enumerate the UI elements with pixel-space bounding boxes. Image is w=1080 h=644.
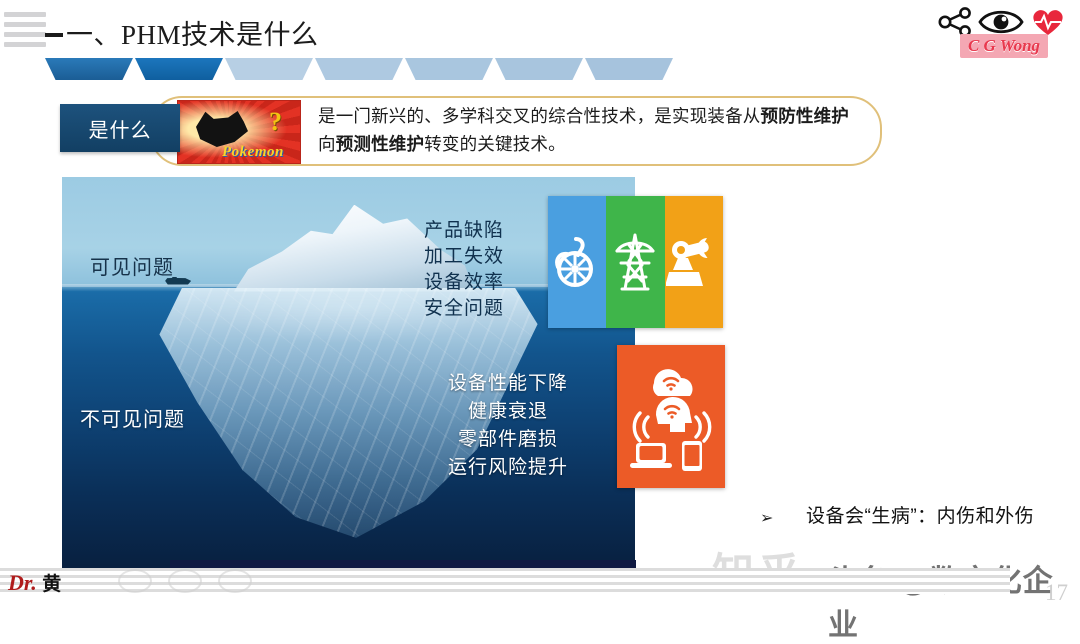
iot-connectivity-icon (626, 357, 716, 477)
logo-wordmark-band: C G Wong (960, 34, 1048, 58)
chevron-segment (405, 58, 493, 80)
tile-turbine (548, 196, 606, 328)
chevron-segment (585, 58, 673, 80)
chevron-progress-bar (45, 58, 675, 80)
footer-decor-dots (118, 570, 288, 592)
pokemon-silhouette-shape (196, 111, 248, 147)
heart-pulse-icon (1030, 7, 1066, 37)
author-signature: Dr. 黄 (8, 569, 61, 596)
chevron-segment (495, 58, 583, 80)
status-badge: 是什么 (60, 104, 180, 152)
definition-suffix: 转变的关键技术。 (424, 134, 566, 154)
label-hidden-problems: 不可见问题 (80, 403, 185, 432)
definition-line-1: 是一门新兴的、多学科交叉的综合性技术，是实现装备从 (318, 106, 761, 126)
eye-icon (978, 7, 1024, 37)
bullet-text: 设备会“生病”：内伤和外伤 (806, 503, 1060, 530)
robot-arm-icon (666, 232, 722, 292)
bullet-arrow-icon: ➢ (760, 508, 773, 528)
definition-bold-1: 预防性维护 (761, 106, 850, 126)
industry-icon-tiles (548, 196, 723, 328)
chevron-segment (45, 58, 133, 80)
hamburger-icon (4, 12, 48, 56)
author-prefix: Dr. (8, 570, 37, 595)
hidden-problem-list: 设备性能下降 健康衰退 零部件磨损 运行风险提升 (424, 370, 592, 482)
slide-root: 一、PHM技术是什么 (0, 0, 1080, 608)
tile-iot-connectivity (617, 345, 725, 488)
turbine-engine-icon (554, 233, 600, 291)
author-name: 黄 (42, 574, 61, 595)
logo-wordmark: C G Wong (968, 36, 1040, 56)
label-visible-problems: 可见问题 (90, 251, 174, 280)
definition-text: 是一门新兴的、多学科交叉的综合性技术，是实现装备从预防性维护向预测性维护转变的关… (318, 102, 863, 158)
pokemon-brand-text: Pokemon (222, 144, 284, 161)
page-number: 17 (1045, 580, 1068, 606)
title-rule (45, 33, 63, 37)
chevron-segment (225, 58, 313, 80)
share-network-icon (938, 7, 972, 37)
definition-mid: 向 (318, 134, 336, 154)
chevron-segment (315, 58, 403, 80)
badge-label: 是什么 (89, 114, 152, 143)
visible-problem-list: 产品缺陷 加工失效 设备效率 安全问题 (424, 218, 504, 322)
power-pylon-icon (609, 231, 661, 293)
question-mark-icon: ? (269, 107, 282, 137)
pokemon-silhouette-thumbnail: ? Pokemon (177, 100, 301, 164)
definition-bold-2: 预测性维护 (336, 134, 425, 154)
chevron-segment (135, 58, 223, 80)
tile-robot-arm (665, 196, 723, 328)
bullet-point: ➢ 设备会“生病”：内伤和外伤 (760, 503, 1060, 530)
tile-power-pylon (606, 196, 664, 328)
brand-logo: C G Wong (938, 3, 1066, 61)
page-title: 一、PHM技术是什么 (66, 13, 319, 52)
